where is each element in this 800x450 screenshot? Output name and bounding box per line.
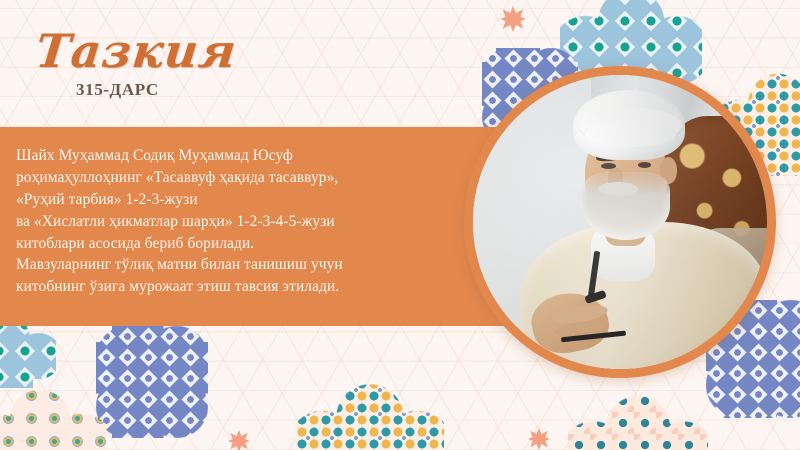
description-line: китобнинг ўзига мурожаат этиш тавсия эти…: [16, 276, 446, 298]
ornament-quatrefoil-blue-left-fill: [96, 326, 208, 438]
lesson-number-label: 315-ДАРС: [76, 80, 159, 100]
description-line: китоблари асосида бериб борилади.: [16, 233, 446, 255]
description-line: Шайх Муҳаммад Содиқ Муҳаммад Юсуф: [16, 145, 446, 167]
ornament-cloud-rosette-left: [0, 384, 106, 450]
ornament-star-top-left-icon: [500, 6, 526, 32]
ornament-star-left-mid-icon: [22, 352, 44, 374]
description-line: роҳимаҳуллоҳнинг «Тасаввуф ҳақида тасавв…: [16, 167, 446, 189]
ornament-cloud-confetti-bottom: [296, 378, 444, 450]
ornament-quatrefoil-blue-left: [96, 326, 208, 438]
description-line: ва «Хислатли ҳикматлар шарҳи» 1-2-3-4-5-…: [16, 211, 446, 233]
portrait-photo: [473, 75, 767, 369]
ornament-star-bottom-right-icon: [528, 428, 550, 450]
description-line: «Руҳий тарбия» 1-2-3-жузи: [16, 189, 446, 211]
poster-canvas: Тазкия 315-ДАРС Шайх Муҳаммад Содиқ Муҳа…: [0, 0, 800, 450]
description-line: Мавзуларнинг тўлиқ матни билан танишиш у…: [16, 254, 446, 276]
header: Тазкия 315-ДАРС: [0, 0, 470, 127]
ornament-star-bottom-mid-icon: [228, 430, 250, 450]
brand-title: Тазкия: [33, 24, 239, 78]
ornament-cloud-rosette-left-fill: [0, 384, 106, 450]
ornament-cloud-dots-bottom: [568, 390, 708, 450]
portrait-container: [464, 66, 776, 378]
description-banner: Шайх Муҳаммад Содиқ Муҳаммад Юсуфроҳимаҳ…: [0, 127, 520, 326]
description-text: Шайх Муҳаммад Содиқ Муҳаммад Юсуфроҳимаҳ…: [16, 145, 446, 298]
ornament-cloud-dots-bottom-fill: [568, 390, 708, 450]
ornament-cloud-confetti-bottom-fill: [296, 378, 444, 450]
